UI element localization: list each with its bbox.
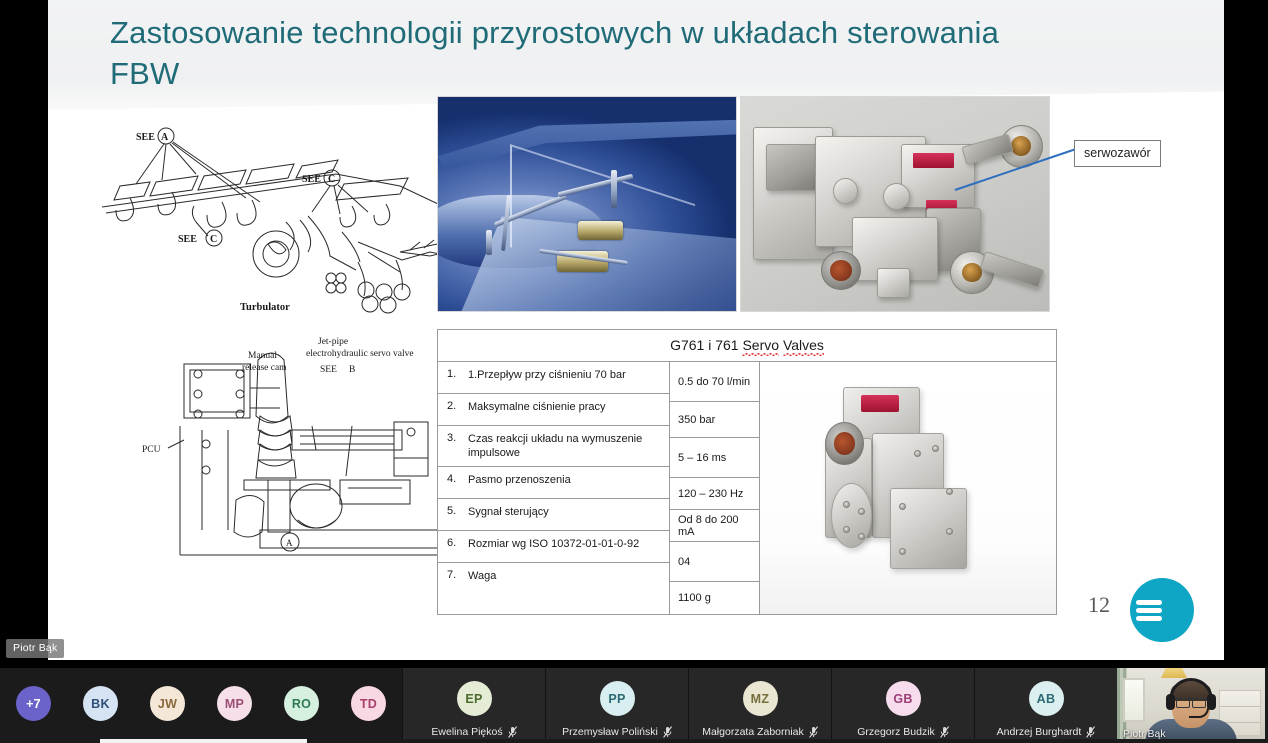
row-value: 5 – 16 ms: [670, 438, 759, 478]
page-title: Zastosowanie technologii przyrostowych w…: [110, 12, 1060, 94]
table-row: 6. Rozmiar wg ISO 10372-01-01-0-92: [438, 531, 669, 563]
participant-tile[interactable]: GB Grzegorz Budzik: [831, 668, 974, 743]
row-index: 3.: [438, 426, 468, 466]
table-row: 7. Waga: [438, 563, 669, 595]
row-label: Czas reakcji układu na wymuszenie impuls…: [468, 426, 669, 466]
avatar: JW: [150, 686, 185, 721]
participant-name: Andrzej Burghardt: [997, 726, 1082, 738]
window-bottom-edge: [0, 739, 1268, 743]
svg-text:B: B: [349, 365, 355, 375]
participant-tile[interactable]: PP Przemysław Poliński: [545, 668, 688, 743]
avatar-initials: EP: [465, 692, 482, 706]
table-row: 1. 1.Przepływ przy ciśnieniu 70 bar: [438, 362, 669, 394]
mic-muted-icon: [940, 726, 949, 738]
table-row: 5. Sygnał sterujący: [438, 499, 669, 531]
hydraulic-actuator-photo: [740, 96, 1050, 312]
avatar-initials: RO: [292, 697, 311, 711]
svg-text:PCU: PCU: [142, 445, 161, 455]
row-label: Waga: [468, 563, 669, 595]
participant-tile[interactable]: JW: [134, 668, 201, 743]
avatar: +7: [16, 686, 51, 721]
svg-text:SEE: SEE: [178, 234, 197, 245]
svg-text:C: C: [328, 174, 335, 185]
mic-muted-icon: [809, 726, 818, 738]
svg-text:A: A: [161, 132, 169, 143]
row-value: 350 bar: [670, 402, 759, 438]
mic-muted-icon: [508, 726, 517, 738]
participant-name: Małgorzata Zaborniak: [702, 726, 804, 738]
teams-meeting-window: Zastosowanie technologii przyrostowych w…: [0, 0, 1268, 743]
row-index: 2.: [438, 394, 468, 425]
presenter-name-chip: Piotr Bąk: [6, 639, 64, 658]
svg-text:Manual: Manual: [248, 351, 277, 361]
avatar-initials: JW: [158, 697, 177, 711]
pcu-servo-valve-diagram: PCU Manual release cam Jet-pipe electroh…: [140, 330, 470, 565]
participant-tile[interactable]: MZ Małgorzata Zaborniak: [688, 668, 831, 743]
participant-tile[interactable]: AB Andrzej Burghardt: [974, 668, 1117, 743]
participant-name-row: Andrzej Burghardt: [975, 726, 1117, 738]
table-row: 4. Pasmo przenoszenia: [438, 467, 669, 499]
row-index: 4.: [438, 467, 468, 498]
svg-text:C: C: [210, 234, 217, 245]
row-label: Sygnał sterujący: [468, 499, 669, 530]
avatar-initials: +7: [26, 697, 41, 711]
row-value: Od 8 do 200 mA: [670, 510, 759, 542]
specification-table: G761 i 761 Servo Valves 1. 1.Przepływ pr…: [437, 329, 1057, 615]
row-label: 1.Przepływ przy ciśnieniu 70 bar: [468, 362, 669, 393]
aircraft-cad-render-image: [437, 96, 737, 312]
avatar-initials: MZ: [751, 692, 770, 706]
mic-muted-icon: [663, 726, 672, 738]
shared-content-stage: Zastosowanie technologii przyrostowych w…: [0, 0, 1268, 668]
avatar: TD: [351, 686, 386, 721]
avatar: GB: [886, 681, 921, 716]
row-label: Pasmo przenoszenia: [468, 467, 669, 498]
row-index: 5.: [438, 499, 468, 530]
participant-name-row: Małgorzata Zaborniak: [689, 726, 831, 738]
participant-name-row: Przemysław Poliński: [546, 726, 688, 738]
servo-valve-product-photo: [760, 362, 1056, 614]
participant-name: Przemysław Poliński: [562, 726, 658, 738]
avatar: RO: [284, 686, 319, 721]
avatar: BK: [83, 686, 118, 721]
participant-tile[interactable]: TD: [335, 668, 402, 743]
row-label: Maksymalne ciśnienie pracy: [468, 394, 669, 425]
table-title: G761 i 761 Servo Valves: [438, 330, 1056, 362]
row-label: Rozmiar wg ISO 10372-01-01-0-92: [468, 531, 669, 562]
svg-text:release cam: release cam: [242, 363, 287, 373]
svg-text:SEE: SEE: [136, 132, 155, 143]
svg-text:Jet-pipe: Jet-pipe: [318, 337, 348, 347]
avatar: PP: [600, 681, 635, 716]
table-row: 3. Czas reakcji układu na wymuszenie imp…: [438, 426, 669, 467]
svg-text:SEE: SEE: [320, 365, 337, 375]
avatar: MP: [217, 686, 252, 721]
row-index: 6.: [438, 531, 468, 562]
active-speaker-video-tile[interactable]: Piotr Bąk: [1117, 668, 1265, 743]
table-row: 2. Maksymalne ciśnienie pracy: [438, 394, 669, 426]
callout-serwozawor: serwozawór: [1074, 140, 1161, 167]
participant-name-row: Ewelina Piękoś: [403, 726, 545, 738]
avatar: MZ: [743, 681, 778, 716]
row-value: 04: [670, 542, 759, 582]
participant-tile[interactable]: EP Ewelina Piękoś: [402, 668, 545, 743]
prz-logo-icon: [1128, 576, 1196, 644]
presenter-name: Piotr Bąk: [13, 642, 57, 654]
participant-filmstrip: +7 BK JW MP RO TD: [0, 668, 1268, 743]
avatar-initials: MP: [225, 697, 244, 711]
svg-text:electrohydraulic servo valve: electrohydraulic servo valve: [306, 349, 414, 359]
participant-tile[interactable]: RO: [268, 668, 335, 743]
table-title-prefix: G761 i 761: [670, 337, 742, 353]
avatar-initials: BK: [91, 697, 110, 711]
participant-name-row: Grzegorz Budzik: [832, 726, 974, 738]
table-label-column: 1. 1.Przepływ przy ciśnieniu 70 bar 2. M…: [438, 362, 670, 614]
participant-name: Ewelina Piękoś: [431, 726, 502, 738]
participant-tile[interactable]: MP: [201, 668, 268, 743]
mic-muted-icon: [1086, 726, 1095, 738]
table-value-column: 0.5 do 70 l/min 350 bar 5 – 16 ms 120 – …: [670, 362, 760, 614]
avatar-initials: GB: [893, 692, 912, 706]
row-index: 7.: [438, 563, 468, 595]
callout-leader-line: [953, 138, 1081, 198]
svg-text:SEE: SEE: [302, 174, 321, 185]
row-index: 1.: [438, 362, 468, 393]
avatar-initials: PP: [608, 692, 625, 706]
svg-text:A: A: [286, 538, 293, 548]
avatar: EP: [457, 681, 492, 716]
participant-overflow-tile[interactable]: +7: [0, 668, 67, 743]
table-title-servo: Servo: [742, 337, 779, 353]
callout-label: serwozawór: [1084, 146, 1151, 160]
row-value: 120 – 230 Hz: [670, 478, 759, 510]
presentation-slide: Zastosowanie technologii przyrostowych w…: [48, 0, 1224, 660]
row-value: 1100 g: [670, 582, 759, 614]
svg-text:Turbulator: Turbulator: [240, 302, 290, 313]
avatar-initials: AB: [1037, 692, 1056, 706]
row-value: 0.5 do 70 l/min: [670, 362, 759, 402]
participant-tile[interactable]: BK: [67, 668, 134, 743]
avatar: AB: [1029, 681, 1064, 716]
table-title-valves: Valves: [783, 337, 824, 353]
participant-name: Grzegorz Budzik: [857, 726, 935, 738]
slide-page-number: 12: [1088, 592, 1110, 618]
avatar-initials: TD: [360, 697, 377, 711]
aircraft-wing-diagram: SEE A SEE C SEE C Turbulator: [100, 112, 475, 317]
table-body: 1. 1.Przepływ przy ciśnieniu 70 bar 2. M…: [438, 362, 1056, 614]
